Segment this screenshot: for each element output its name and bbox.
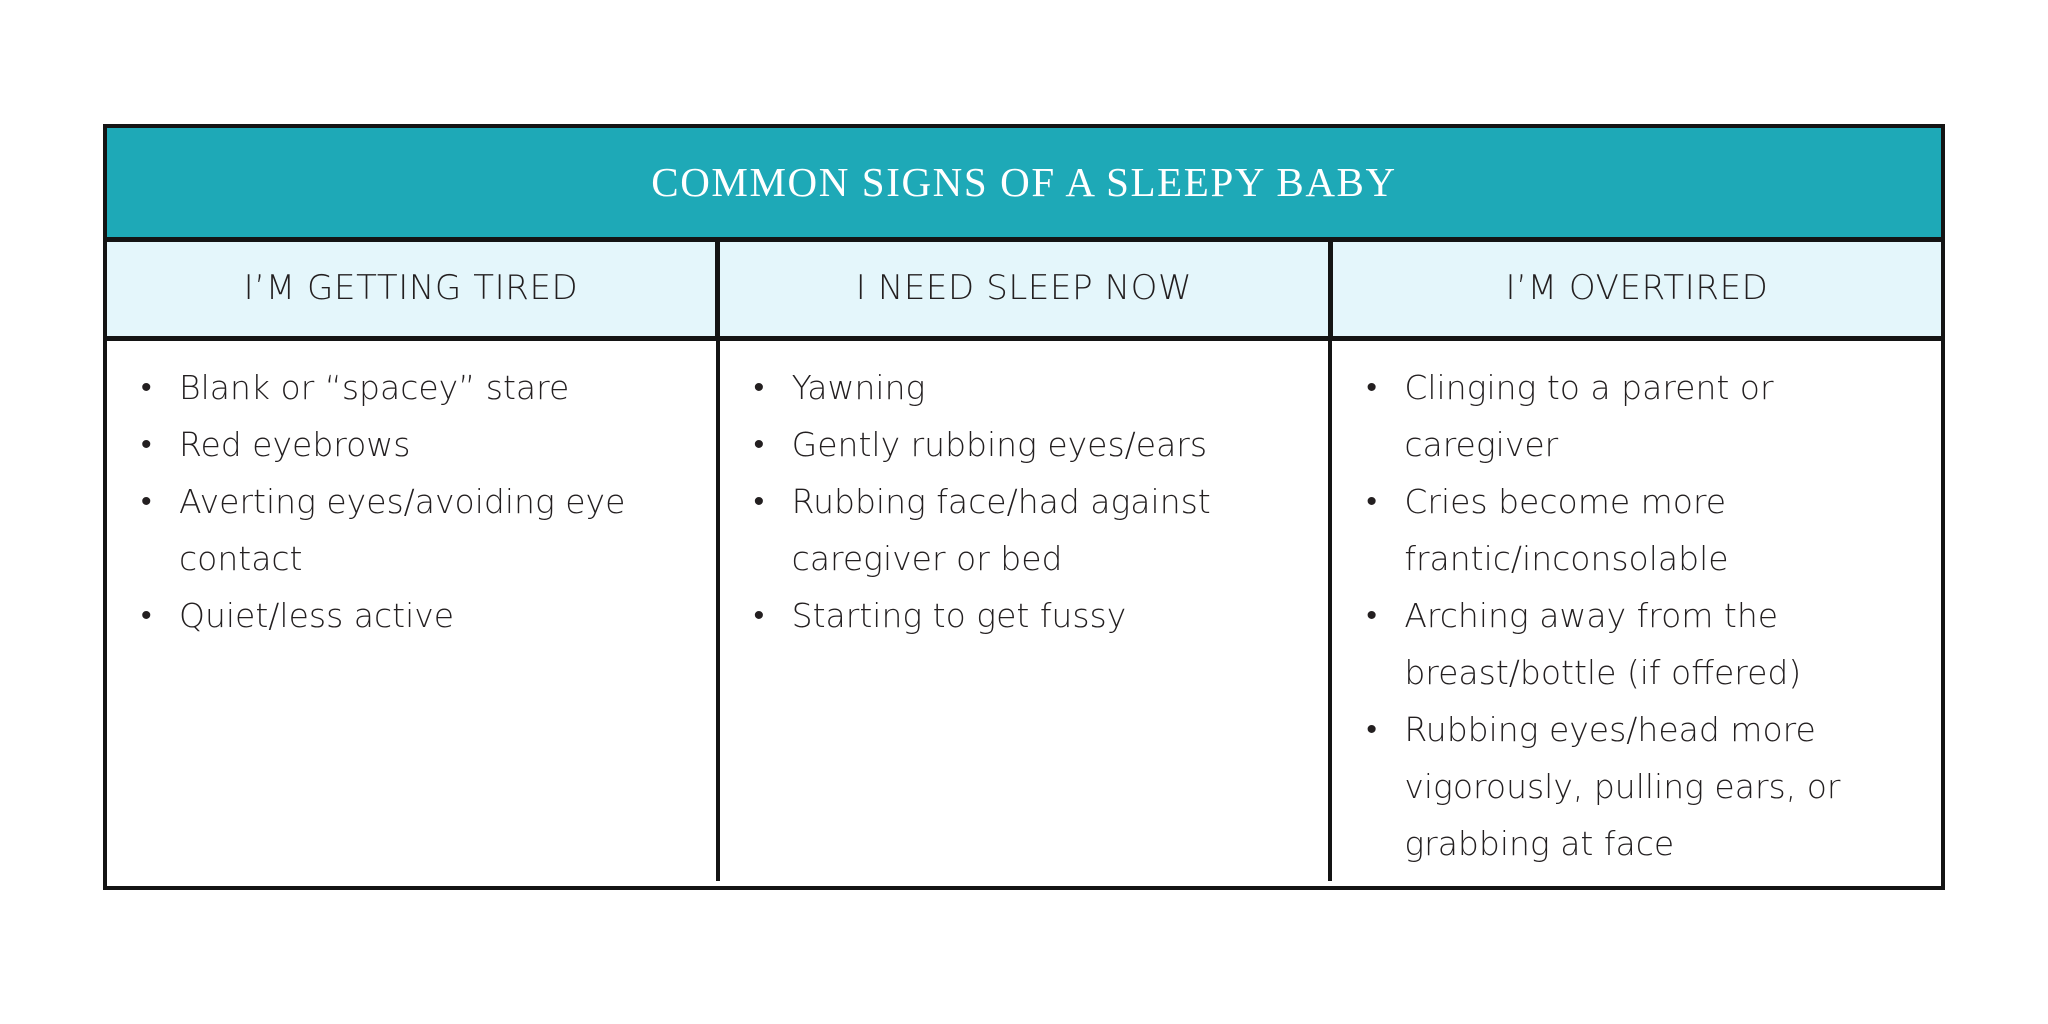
list-item: Rubbing face/had against caregiver or be… — [736, 473, 1292, 587]
column-header-getting-tired: I’M GETTING TIRED — [107, 242, 715, 336]
page-title: COMMON SIGNS OF A SLEEPY BABY — [651, 162, 1396, 203]
list-item: Gently rubbing eyes/ears — [736, 416, 1292, 473]
column-header-overtired: I’M OVERTIRED — [1328, 242, 1941, 336]
list-item: Clinging to a parent or caregiver — [1348, 359, 1904, 473]
column-body-getting-tired: Blank or “spacey” stare Red eyebrows Ave… — [107, 341, 716, 881]
sleepy-baby-signs-table: COMMON SIGNS OF A SLEEPY BABY I’M GETTIN… — [103, 124, 1945, 890]
list-item: Starting to get fussy — [736, 587, 1292, 644]
column-header-label: I NEED SLEEP NOW — [856, 270, 1192, 307]
signs-list-getting-tired: Blank or “spacey” stare Red eyebrows Ave… — [123, 359, 700, 644]
list-item: Quiet/less active — [123, 587, 679, 644]
column-header-row: I’M GETTING TIRED I NEED SLEEP NOW I’M O… — [107, 242, 1941, 341]
table-body-row: Blank or “spacey” stare Red eyebrows Ave… — [107, 341, 1941, 881]
signs-list-overtired: Clinging to a parent or caregiver Cries … — [1348, 359, 1925, 872]
list-item: Cries become more frantic/inconsolable — [1348, 473, 1904, 587]
column-header-label: I’M OVERTIRED — [1506, 270, 1769, 307]
list-item: Yawning — [736, 359, 1292, 416]
table-title-banner: COMMON SIGNS OF A SLEEPY BABY — [107, 128, 1941, 242]
column-body-need-sleep-now: Yawning Gently rubbing eyes/ears Rubbing… — [716, 341, 1329, 881]
list-item: Averting eyes/avoiding eye contact — [123, 473, 679, 587]
list-item: Blank or “spacey” stare — [123, 359, 679, 416]
page-canvas: COMMON SIGNS OF A SLEEPY BABY I’M GETTIN… — [0, 0, 2048, 1024]
list-item: Arching away from the breast/bottle (if … — [1348, 587, 1904, 701]
signs-list-need-sleep-now: Yawning Gently rubbing eyes/ears Rubbing… — [736, 359, 1313, 644]
column-header-label: I’M GETTING TIRED — [244, 270, 579, 307]
column-header-need-sleep-now: I NEED SLEEP NOW — [715, 242, 1328, 336]
list-item: Rubbing eyes/head more vigorously, pulli… — [1348, 701, 1904, 872]
column-body-overtired: Clinging to a parent or caregiver Cries … — [1328, 341, 1941, 881]
list-item: Red eyebrows — [123, 416, 679, 473]
